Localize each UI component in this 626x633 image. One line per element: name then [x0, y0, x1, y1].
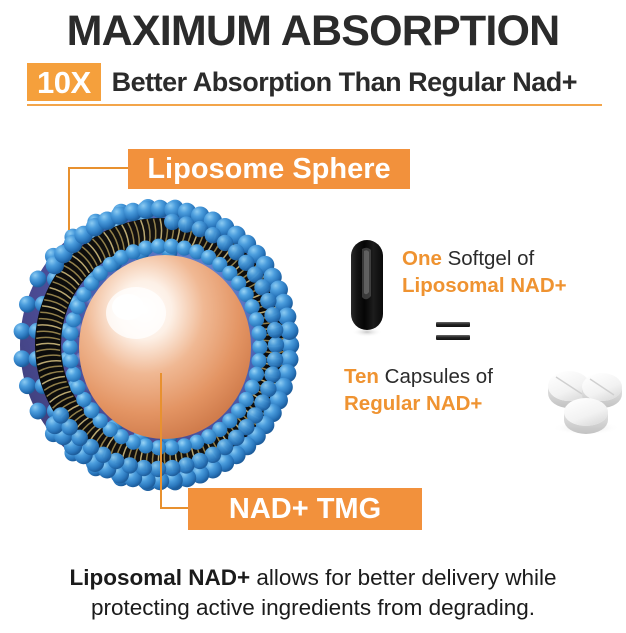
leader-line-top-horizontal — [68, 167, 130, 169]
softgel-product-name: Liposomal NAD+ — [402, 274, 567, 297]
softgel-comparison-text: One Softgel of Liposomal NAD+ — [402, 245, 567, 299]
page-title: MAXIMUM ABSORPTION — [0, 6, 626, 56]
capsules-line-2: Regular NAD+ — [344, 390, 493, 417]
capsules-line-1: Ten Capsules of — [344, 363, 493, 390]
capsules-count: Ten — [344, 365, 379, 388]
capsules-noun: Capsules of — [379, 365, 493, 388]
softgel-capsule-icon — [350, 239, 384, 337]
comparison-panel: One Softgel of Liposomal NAD+ Ten Capsul… — [332, 232, 626, 462]
white-tablets-icon — [544, 364, 626, 436]
multiplier-badge: 10X — [27, 63, 101, 101]
equals-bar-top — [436, 322, 470, 327]
footer-caption: Liposomal NAD+ allows for better deliver… — [30, 563, 596, 623]
subtitle-row: 10X Better Absorption Than Regular Nad+ — [27, 63, 602, 101]
subtitle-text: Better Absorption Than Regular Nad+ — [101, 63, 577, 101]
infographic-canvas: MAXIMUM ABSORPTION 10X Better Absorption… — [0, 0, 626, 633]
footer-bold-lead: Liposomal NAD+ — [69, 565, 250, 590]
softgel-noun: Softgel of — [442, 247, 534, 270]
callout-label-nad-tmg: NAD+ TMG — [188, 488, 422, 530]
softgel-line-1: One Softgel of — [402, 245, 567, 272]
leader-line-top-vertical — [68, 167, 70, 230]
equals-sign-icon — [436, 322, 470, 344]
tablet-front — [564, 398, 608, 434]
leader-line-bottom-horizontal — [160, 507, 190, 509]
liposome-svg — [8, 195, 318, 495]
softgel-line-2: Liposomal NAD+ — [402, 272, 567, 299]
liposome-cutaway-sphere — [8, 195, 318, 495]
callout-label-liposome-sphere: Liposome Sphere — [128, 149, 410, 189]
header-block: MAXIMUM ABSORPTION 10X Better Absorption… — [0, 0, 626, 112]
softgel-count: One — [402, 247, 442, 270]
capsules-product-name: Regular NAD+ — [344, 392, 482, 415]
equals-bar-bottom — [436, 335, 470, 340]
peach-payload-core — [79, 255, 251, 439]
leader-line-bottom-vertical — [160, 373, 162, 508]
capsules-comparison-text: Ten Capsules of Regular NAD+ — [344, 363, 493, 417]
header-divider — [27, 104, 602, 106]
